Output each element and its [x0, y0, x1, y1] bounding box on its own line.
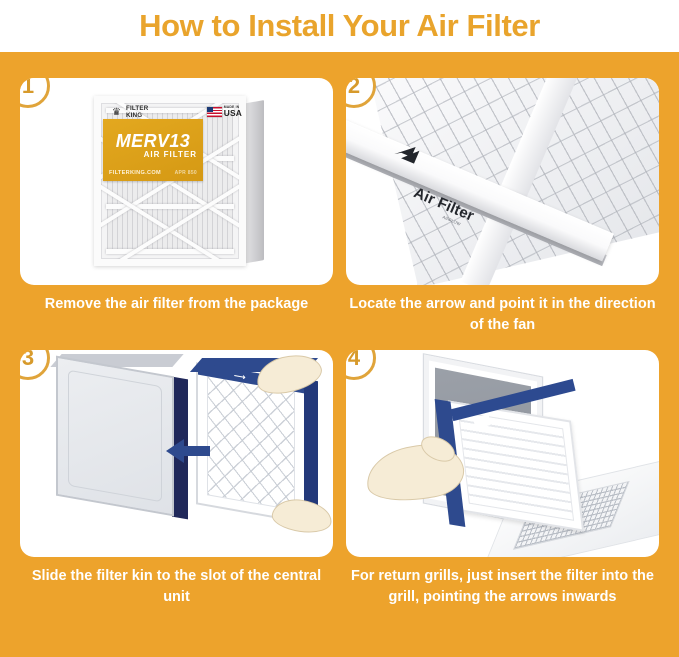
step-1: ♛ FILTER KING MADE IN USA [20, 78, 333, 315]
brand-line-2: KING [126, 112, 142, 119]
step-3-artwork: ⟶ [20, 350, 333, 557]
filter-king-logo: ♛ FILTER KING [112, 106, 148, 119]
central-unit-body [56, 356, 174, 517]
air-filter-product: ♛ FILTER KING MADE IN USA [94, 96, 264, 268]
step-3: ⟶ 3 Slide the filter kin to the slot of … [20, 350, 333, 607]
page-title: How to Install Your Air Filter [139, 8, 540, 44]
step-2: Air Filter AIRFLOW 2 Locate the arrow an… [346, 78, 659, 335]
step-4-caption: For return grills, just insert the filte… [346, 566, 659, 607]
crown-icon: ♛ [112, 107, 124, 118]
band-arrow-icon: ⟶ [234, 371, 245, 382]
merv-rating: MERV13 [103, 131, 203, 152]
step-4-card: 4 [346, 350, 659, 557]
step-2-artwork: Air Filter AIRFLOW [346, 78, 659, 285]
step-1-card: ♛ FILTER KING MADE IN USA [20, 78, 333, 285]
return-grill-door [448, 400, 584, 531]
merv-label: MERV13 AIR FILTER FILTERKING.COM APR 850 [103, 119, 203, 181]
step-2-card: Air Filter AIRFLOW 2 [346, 78, 659, 285]
made-in-usa-badge: MADE IN USA [207, 106, 242, 118]
infographic-page: How to Install Your Air Filter [0, 0, 679, 657]
step-1-caption: Remove the air filter from the package [20, 294, 333, 315]
step-4-artwork [346, 350, 659, 557]
title-bar: How to Install Your Air Filter [0, 0, 679, 52]
brand-name: FILTER KING [126, 106, 148, 119]
product-type: AIR FILTER [103, 150, 197, 159]
country-label: USA [224, 109, 242, 117]
step-3-card: ⟶ 3 [20, 350, 333, 557]
usa-flag-icon [207, 107, 222, 117]
steps-grid: ♛ FILTER KING MADE IN USA [0, 52, 679, 657]
step-3-caption: Slide the filter kin to the slot of the … [20, 566, 333, 607]
step-4: 4 For return grills, just insert the fil… [346, 350, 659, 607]
insert-direction-arrow-icon [166, 436, 210, 466]
orange-panel: ♛ FILTER KING MADE IN USA [0, 52, 679, 657]
made-in-usa-text: MADE IN USA [224, 106, 242, 118]
apr-rating: APR 850 [175, 170, 197, 176]
filter-mesh-pattern [207, 375, 295, 511]
step-1-artwork: ♛ FILTER KING MADE IN USA [20, 78, 333, 285]
step-2-caption: Locate the arrow and point it in the dir… [346, 294, 659, 335]
website-text: FILTERKING.COM [109, 170, 161, 176]
